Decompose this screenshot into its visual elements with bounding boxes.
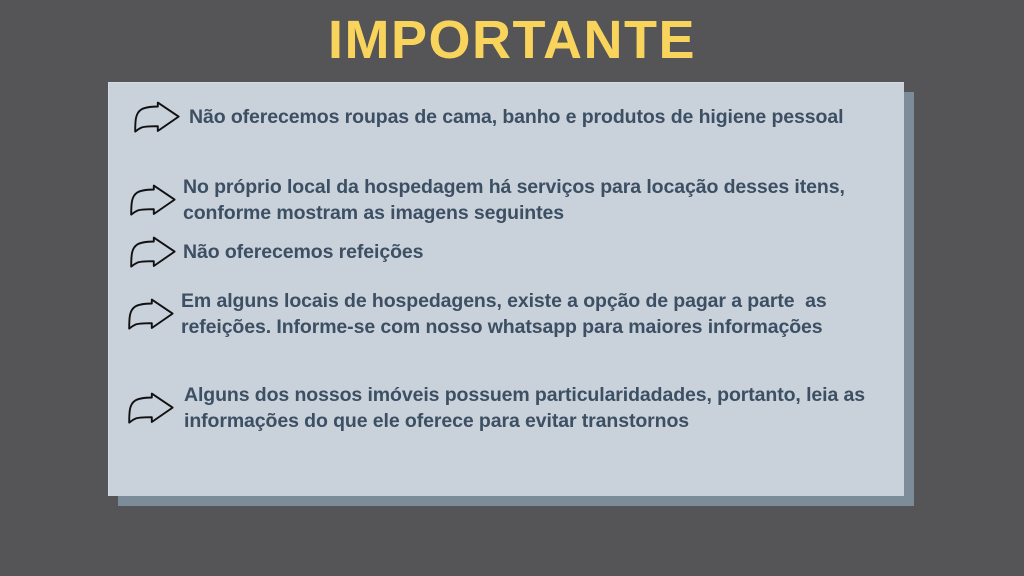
content-panel: Não oferecemos roupas de cama, banho e p… [108, 82, 904, 496]
list-item: No próprio local da hospedagem há serviç… [129, 175, 895, 226]
list-item-label: Não oferecemos roupas de cama, banho e p… [189, 105, 893, 131]
list-item-label: No próprio local da hospedagem há serviç… [183, 175, 895, 226]
curved-right-arrow-icon [127, 298, 175, 332]
list-item: Não oferecemos refeições [129, 236, 895, 270]
list-item: Em alguns locais de hospedagens, existe … [127, 289, 897, 340]
curved-right-arrow-icon [127, 392, 175, 426]
bullet-list: Não oferecemos roupas de cama, banho e p… [109, 83, 905, 497]
presentation-slide: IMPORTANTE Não oferecemos roupas de cama… [0, 0, 1024, 576]
list-item: Não oferecemos roupas de cama, banho e p… [133, 101, 893, 135]
curved-right-arrow-icon [133, 101, 181, 135]
list-item-label: Não oferecemos refeições [183, 240, 895, 266]
list-item-label: Alguns dos nossos imóveis possuem partic… [184, 383, 897, 434]
list-item: Alguns dos nossos imóveis possuem partic… [127, 383, 897, 434]
curved-right-arrow-icon [129, 184, 177, 218]
list-item-label: Em alguns locais de hospedagens, existe … [181, 289, 897, 340]
curved-right-arrow-icon [129, 236, 177, 270]
page-title: IMPORTANTE [0, 12, 1024, 69]
